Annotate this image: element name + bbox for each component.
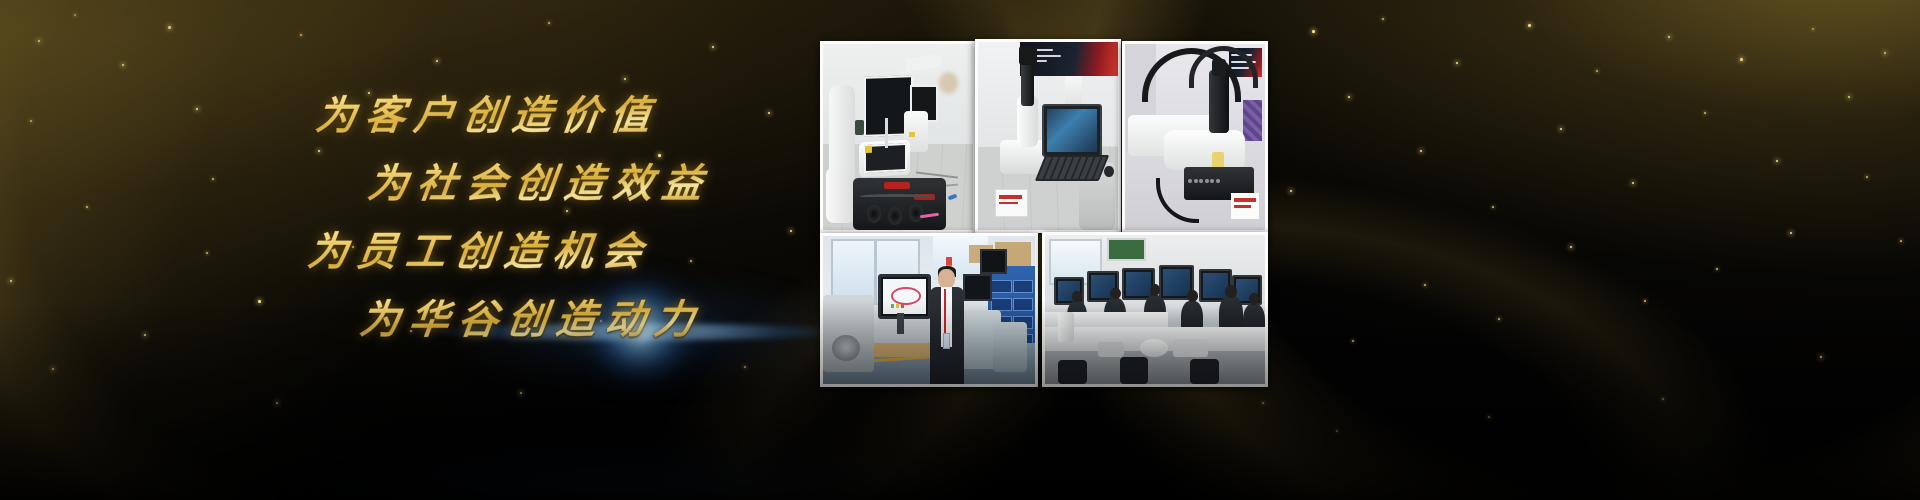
corporate-banner: 为客户创造价值 为社会创造效益 为员工创造机会 为华谷创造动力 — [0, 0, 1920, 500]
background-vignette — [0, 0, 1920, 500]
